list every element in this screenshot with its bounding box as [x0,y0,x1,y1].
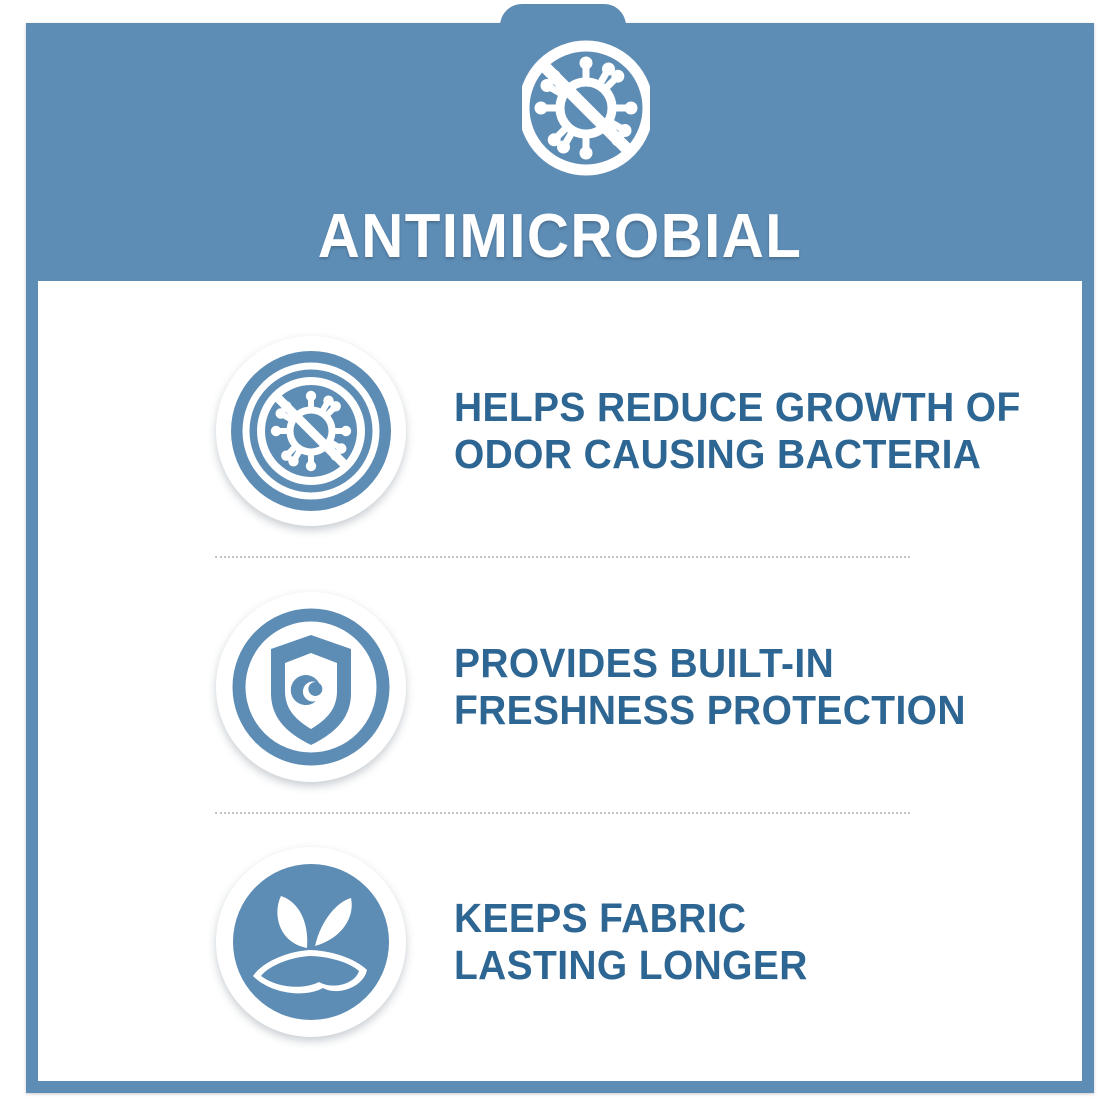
feature-text: HELPS REDUCE GROWTH OF ODOR CAUSING BACT… [454,384,1051,478]
feature-text: PROVIDES BUILT-IN FRESHNESS PROTECTION [454,640,1051,734]
feature-divider [215,556,910,558]
page-title: ANTIMICROBIAL [58,204,1062,270]
no-bacteria-icon [216,336,406,526]
infographic-card: ANTIMICROBIAL [0,0,1120,1120]
feature-text-line-2: FRESHNESS PROTECTION [454,687,1051,734]
feature-row: PROVIDES BUILT-IN FRESHNESS PROTECTION [38,579,1082,795]
feature-text-line-1: HELPS REDUCE GROWTH OF [454,384,1051,431]
shield-swirl-icon [216,592,406,782]
feature-text: KEEPS FABRIC LASTING LONGER [454,895,1051,989]
feature-text-line-1: KEEPS FABRIC [454,895,1051,942]
feature-row: HELPS REDUCE GROWTH OF ODOR CAUSING BACT… [38,323,1082,539]
header-band: ANTIMICROBIAL [26,23,1094,281]
feature-row: KEEPS FABRIC LASTING LONGER [38,834,1082,1050]
no-bacteria-icon [522,32,650,182]
feature-text-line-1: PROVIDES BUILT-IN [454,640,1051,687]
feature-list: HELPS REDUCE GROWTH OF ODOR CAUSING BACT… [38,281,1082,1081]
leaf-sprout-icon [216,847,406,1037]
feature-divider [215,812,910,814]
feature-text-line-2: ODOR CAUSING BACTERIA [454,431,1051,478]
feature-text-line-2: LASTING LONGER [454,942,1051,989]
